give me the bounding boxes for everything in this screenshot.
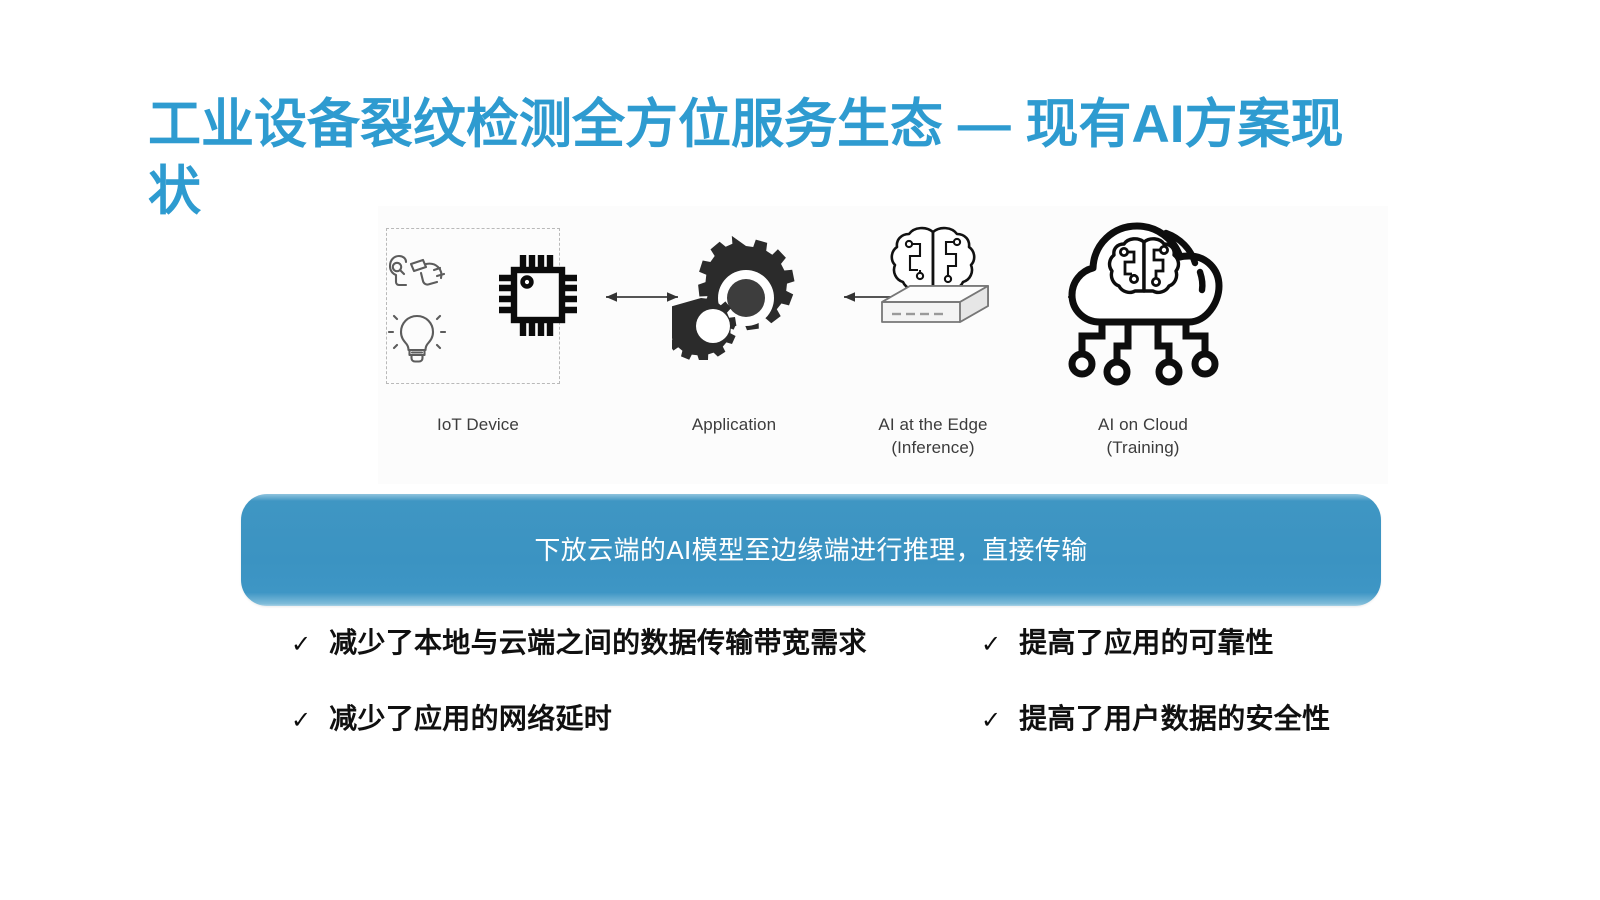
slide-canvas: 工业设备裂纹检测全方位服务生态 ― 现有AI方案现状 <box>0 0 1600 900</box>
cloud-brain-network-icon <box>1054 206 1232 388</box>
list-item: ✓ 提高了应用的可靠性 <box>931 628 1401 659</box>
check-icon: ✓ <box>981 708 1001 732</box>
benefits-list: ✓ 减少了本地与云端之间的数据传输带宽需求 ✓ 提高了应用的可靠性 ✓ 减少了应… <box>241 628 1401 780</box>
gears-icon <box>672 230 796 360</box>
diagram-node-label: IoT Device <box>378 414 578 437</box>
iot-sensor-icons <box>384 254 450 364</box>
diagram-node-application: Application <box>634 206 834 360</box>
check-icon: ✓ <box>291 708 311 732</box>
sensor-face-icon <box>387 254 447 298</box>
list-item: ✓ 减少了本地与云端之间的数据传输带宽需求 <box>241 628 931 659</box>
list-item-label: 提高了应用的可靠性 <box>1019 628 1274 659</box>
diagram-node-ai-on-cloud: AI on Cloud (Training) <box>1018 206 1268 388</box>
list-item: ✓ 减少了应用的网络延时 <box>241 704 931 735</box>
check-icon: ✓ <box>981 632 1001 656</box>
lightbulb-icon <box>388 308 446 364</box>
list-item-label: 减少了本地与云端之间的数据传输带宽需求 <box>329 628 867 659</box>
list-item: ✓ 提高了用户数据的安全性 <box>931 704 1401 735</box>
brain-circuit-server-icon <box>868 218 998 348</box>
list-item-label: 减少了应用的网络延时 <box>329 704 612 735</box>
diagram-node-label: AI on Cloud (Training) <box>1018 414 1268 460</box>
diagram-node-label: Application <box>634 414 834 437</box>
check-icon: ✓ <box>291 632 311 656</box>
highlight-banner-text: 下放云端的AI模型至边缘端进行推理，直接传输 <box>421 523 1201 578</box>
list-item-label: 提高了用户数据的安全性 <box>1019 704 1330 735</box>
architecture-diagram: IoT Device Application <box>378 206 1388 484</box>
chip-icon-wrap <box>490 244 586 346</box>
chip-icon <box>490 244 586 346</box>
highlight-banner: 下放云端的AI模型至边缘端进行推理，直接传输 <box>241 494 1381 606</box>
